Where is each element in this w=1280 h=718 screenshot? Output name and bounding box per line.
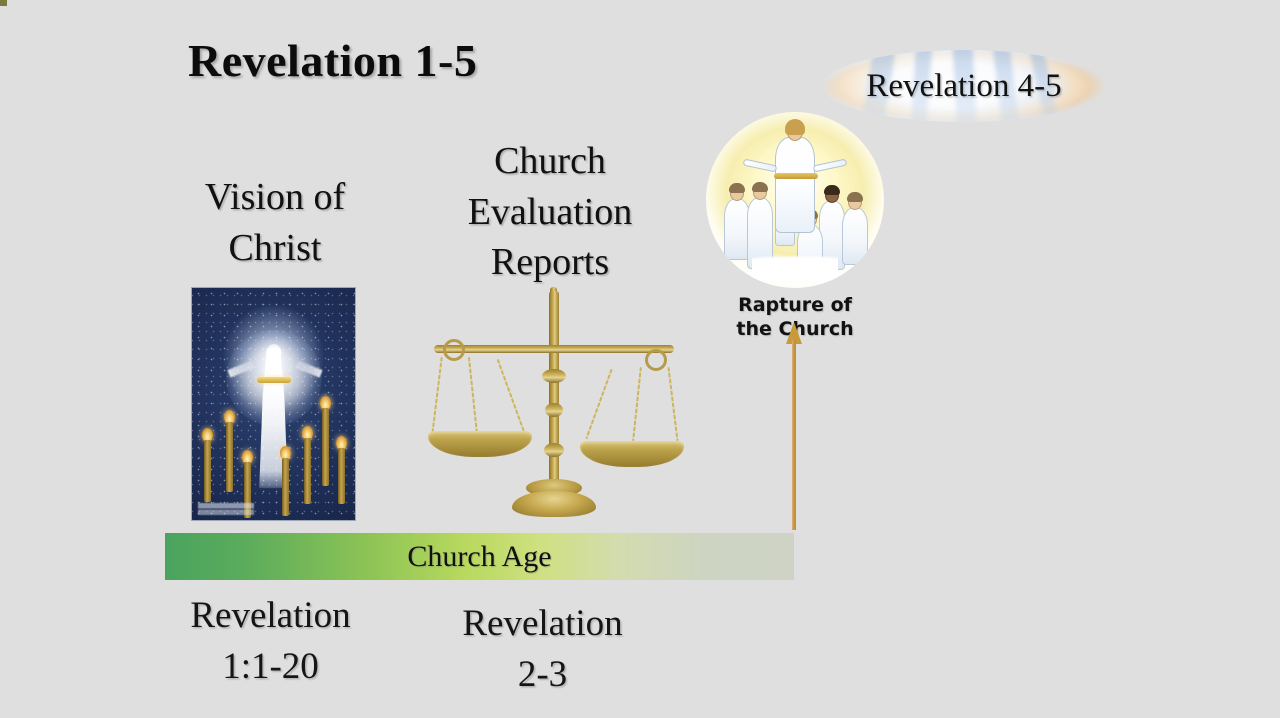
- vision-reference-line-1: Revelation: [148, 590, 393, 641]
- presentation-slide: Revelation 1-5 Vision of Christ: [0, 0, 1280, 718]
- christ-figure: [775, 137, 815, 233]
- church-evaluation-reference-label: Revelation 2-3: [420, 598, 665, 700]
- lampstand-icon: [336, 436, 347, 504]
- scale-pan-left: [428, 431, 532, 457]
- scale-chain: [632, 367, 642, 441]
- scale-beam: [434, 345, 674, 353]
- scale-chain: [585, 369, 612, 439]
- vision-of-christ-image: [191, 287, 356, 521]
- heaven-scene-oval: Revelation 4-5: [822, 50, 1106, 122]
- scale-chain: [468, 357, 478, 435]
- rapture-arrow: [786, 322, 802, 530]
- rapture-figure: [842, 207, 868, 265]
- scale-chain: [497, 359, 526, 433]
- vision-of-christ-heading: Vision of Christ: [150, 172, 400, 273]
- scale-knob: [545, 403, 563, 417]
- lampstand-icon: [302, 426, 313, 504]
- vision-heading-line-1: Vision of: [150, 172, 400, 223]
- scale-base: [512, 491, 596, 517]
- balance-scale-image: [430, 283, 680, 523]
- rapture-caption-line-1: Rapture of: [700, 294, 890, 318]
- lampstand-icon: [202, 428, 213, 502]
- scale-chain: [667, 367, 678, 441]
- rapture-cloud: [752, 255, 838, 281]
- scale-knob: [542, 369, 566, 383]
- scale-column: [549, 291, 559, 503]
- scale-ring-right: [645, 349, 667, 371]
- church-age-timeline-bar: Church Age: [165, 533, 794, 580]
- church-eval-heading-line-2: Evaluation: [430, 187, 670, 238]
- scale-chain: [431, 357, 442, 435]
- church-eval-reference-line-1: Revelation: [420, 598, 665, 649]
- christ-golden-sash: [257, 377, 291, 383]
- corner-artifact: [0, 0, 7, 6]
- church-age-label: Church Age: [407, 540, 551, 574]
- image-credit-caption: [198, 503, 254, 515]
- church-eval-heading-line-3: Reports: [430, 237, 670, 288]
- vision-reference-label: Revelation 1:1-20: [148, 590, 393, 692]
- vision-heading-line-2: Christ: [150, 223, 400, 274]
- rapture-of-the-church-image: [706, 112, 884, 288]
- church-eval-reference-line-2: 2-3: [420, 649, 665, 700]
- rapture-group: Rapture of the Church: [700, 112, 890, 342]
- church-eval-heading-line-1: Church: [430, 136, 670, 187]
- lampstand-icon: [280, 446, 291, 516]
- church-evaluation-heading: Church Evaluation Reports: [430, 136, 670, 288]
- arrow-shaft: [792, 340, 796, 530]
- scale-knob: [544, 443, 564, 457]
- rapture-figure: [724, 198, 750, 260]
- christ-head: [266, 344, 281, 362]
- vision-reference-line-2: 1:1-20: [148, 641, 393, 692]
- lampstand-icon: [320, 396, 331, 486]
- lampstand-icon: [224, 410, 235, 492]
- scale-pan-right: [580, 441, 684, 467]
- heaven-scene-label: Revelation 4-5: [866, 68, 1061, 105]
- page-title: Revelation 1-5: [188, 34, 477, 87]
- scale-ring-left: [443, 339, 465, 361]
